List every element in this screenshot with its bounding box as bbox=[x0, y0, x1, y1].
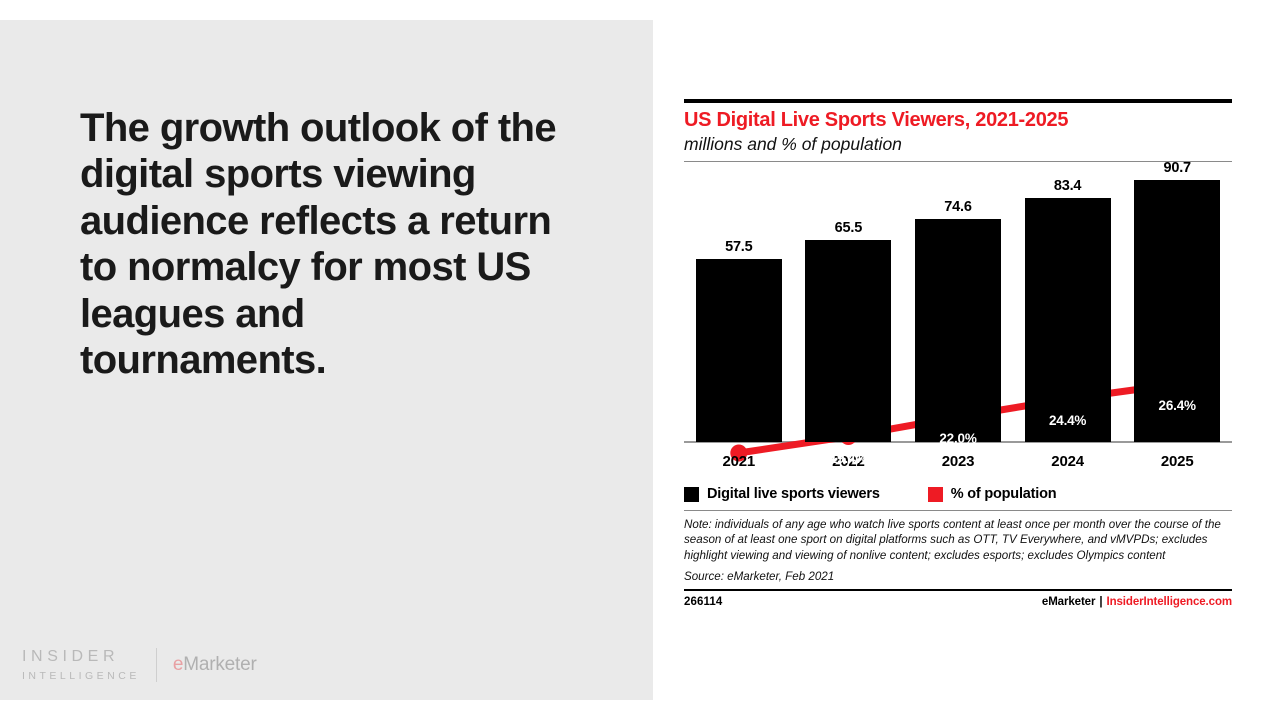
percent-label-2021: 17.2% bbox=[694, 467, 784, 482]
legend-label-bars: Digital live sports viewers bbox=[707, 486, 880, 502]
top-rule bbox=[684, 99, 1232, 103]
bar-value-label-2024: 83.4 bbox=[1028, 178, 1108, 194]
chart-footer: 266114 eMarketer|InsiderIntelligence.com bbox=[684, 596, 1232, 608]
legend-swatch-red bbox=[928, 487, 943, 502]
footer-brand: eMarketer|InsiderIntelligence.com bbox=[1042, 596, 1232, 608]
chart-note: Note: individuals of any age who watch l… bbox=[684, 517, 1232, 563]
brand-lockup: INSIDER INTELLIGENCE eMarketer bbox=[22, 648, 257, 682]
footer-pipe: | bbox=[1095, 596, 1106, 608]
emarketer-logo-e: e bbox=[173, 654, 183, 675]
bar-2023 bbox=[915, 219, 1001, 443]
x-axis-label-2024: 2024 bbox=[1028, 453, 1108, 470]
x-axis-label-2025: 2025 bbox=[1137, 453, 1217, 470]
bar-value-label-2023: 74.6 bbox=[918, 199, 998, 215]
brand-divider bbox=[156, 648, 157, 682]
bar-2021 bbox=[696, 259, 782, 442]
slide-canvas: The growth outlook of the digital sports… bbox=[0, 0, 1280, 720]
insider-intelligence-logo: INSIDER INTELLIGENCE bbox=[22, 649, 140, 682]
bar-value-label-2025: 90.7 bbox=[1137, 160, 1217, 176]
chart-plot-area: 57.5202165.5202274.6202383.4202490.72025… bbox=[684, 162, 1232, 484]
insider-intelligence-logo-top: INSIDER bbox=[22, 649, 140, 665]
percent-label-2022: 19.4% bbox=[803, 451, 893, 466]
footer-rule bbox=[684, 589, 1232, 591]
chart-source: Source: eMarketer, Feb 2021 bbox=[684, 570, 1232, 583]
percent-label-2024: 24.4% bbox=[1023, 413, 1113, 428]
percent-label-2023: 22.0% bbox=[913, 431, 1003, 446]
chart-card: US Digital Live Sports Viewers, 2021-202… bbox=[684, 99, 1232, 608]
emarketer-logo-rest: Marketer bbox=[183, 654, 256, 675]
chart-title: US Digital Live Sports Viewers, 2021-202… bbox=[684, 109, 1232, 132]
page-title: The growth outlook of the digital sports… bbox=[80, 105, 560, 383]
x-axis-label-2023: 2023 bbox=[918, 453, 998, 470]
percent-label-2025: 26.4% bbox=[1132, 398, 1222, 413]
footer-emarketer: eMarketer bbox=[1042, 596, 1095, 608]
legend-swatch-black bbox=[684, 487, 699, 502]
chart-subtitle: millions and % of population bbox=[684, 134, 1232, 154]
footer-website-link[interactable]: InsiderIntelligence.com bbox=[1106, 596, 1232, 608]
legend-item-line: % of population bbox=[928, 486, 1057, 502]
bar-2022 bbox=[805, 240, 891, 442]
left-text-panel: The growth outlook of the digital sports… bbox=[0, 20, 653, 700]
chart-legend: Digital live sports viewers % of populat… bbox=[684, 486, 1232, 502]
bar-value-label-2022: 65.5 bbox=[808, 220, 888, 236]
emarketer-logo: eMarketer bbox=[173, 654, 257, 676]
legend-item-bars: Digital live sports viewers bbox=[684, 486, 880, 502]
bar-2024 bbox=[1025, 198, 1111, 442]
note-divider-rule bbox=[684, 510, 1232, 511]
chart-id: 266114 bbox=[684, 596, 722, 608]
bar-value-label-2021: 57.5 bbox=[699, 239, 779, 255]
insider-intelligence-logo-bottom: INTELLIGENCE bbox=[22, 671, 140, 682]
legend-label-line: % of population bbox=[951, 486, 1057, 502]
